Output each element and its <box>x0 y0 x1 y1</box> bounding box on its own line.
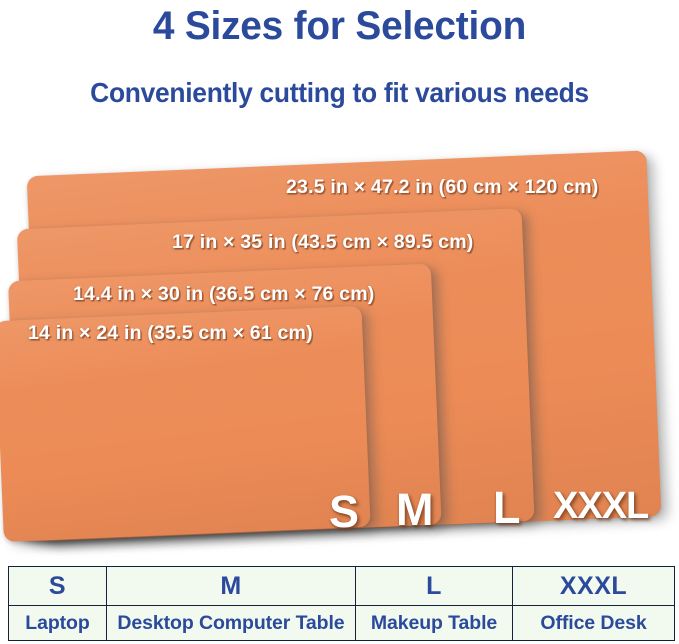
table-header-l: L <box>356 567 513 606</box>
mat-size-letter-m: M <box>396 487 434 532</box>
mat-dimension-label-m: 14.4 in × 30 in (36.5 cm × 76 cm) <box>73 283 374 306</box>
table-header-xxxl: XXXL <box>513 567 675 606</box>
table-row: Laptop Desktop Computer Table Makeup Tab… <box>9 606 675 641</box>
mat-dimension-label-l: 17 in × 35 in (43.5 cm × 89.5 cm) <box>172 231 473 254</box>
mat-dimension-label-s: 14 in × 24 in (35.5 cm × 61 cm) <box>28 322 313 345</box>
size-usage-table: S M L XXXL Laptop Desktop Computer Table… <box>8 566 675 641</box>
mat-size-letter-l: L <box>493 485 521 530</box>
mat-size-letter-xxxl: XXXL <box>553 487 648 525</box>
mat-size-letter-s: S <box>329 489 359 534</box>
table-header-row: S M L XXXL <box>9 567 675 606</box>
table-cell-use-m: Desktop Computer Table <box>107 606 356 641</box>
table-header-s: S <box>9 567 107 606</box>
table-cell-use-s: Laptop <box>9 606 107 641</box>
mat-dimension-label-xxxl: 23.5 in × 47.2 in (60 cm × 120 cm) <box>286 176 598 199</box>
table-cell-use-xxxl: Office Desk <box>513 606 675 641</box>
table-cell-use-l: Makeup Table <box>356 606 513 641</box>
mat-size-comparison-graphic: 23.5 in × 47.2 in (60 cm × 120 cm) 17 in… <box>0 0 679 560</box>
table-header-m: M <box>107 567 356 606</box>
